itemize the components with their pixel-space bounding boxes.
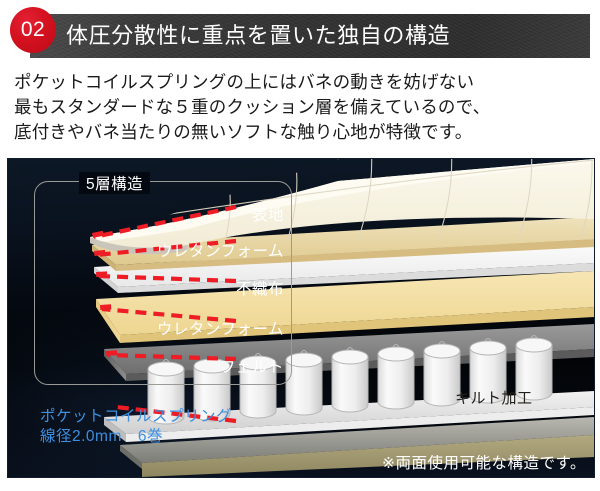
pocket-coil-spec-line-1: ポケットコイルスプリング <box>40 407 232 427</box>
intro-line-1: ポケットコイルスプリングの上にはバネの動きを妨げない <box>14 70 584 95</box>
page-title: 体圧分散性に重点を置いた独自の構造 <box>66 18 450 50</box>
infographic-page: 02 体圧分散性に重点を置いた独自の構造 ポケットコイルスプリングの上にはバネの… <box>0 0 600 491</box>
legend-title: 5層構造 <box>79 172 150 194</box>
intro-line-2: 最もスタンダードな５重のクッション層を備えているので、 <box>14 95 584 120</box>
pocket-coil-spec-line-2: 線径2.0mm 6巻 <box>40 427 232 447</box>
structure-diagram-panel: 5層構造 表地 ウレタンフォーム 不織布 ウレタンフォーム フェルト キルト加工… <box>7 158 595 478</box>
section-header: 02 体圧分散性に重点を置いた独自の構造 <box>0 0 600 62</box>
quilt-process-label: キルト加工 <box>455 387 533 408</box>
layer-label-3: ウレタンフォーム <box>34 317 284 339</box>
step-number-badge: 02 <box>10 7 56 53</box>
layer-label-4: フェルト <box>34 355 284 377</box>
intro-line-3: 底付きやバネ当たりの無いソフトな触り心地が特徴です。 <box>14 120 584 145</box>
reversible-structure-note: ※両面使用可能な構造です。 <box>382 451 586 473</box>
layer-label-0: 表地 <box>34 203 284 225</box>
pocket-coil-spec-note: ポケットコイルスプリング 線径2.0mm 6巻 <box>40 407 232 447</box>
intro-paragraph: ポケットコイルスプリングの上にはバネの動きを妨げない 最もスタンダードな５重のク… <box>14 70 584 145</box>
layer-label-1: ウレタンフォーム <box>34 239 284 261</box>
layer-label-2: 不織布 <box>34 277 284 299</box>
